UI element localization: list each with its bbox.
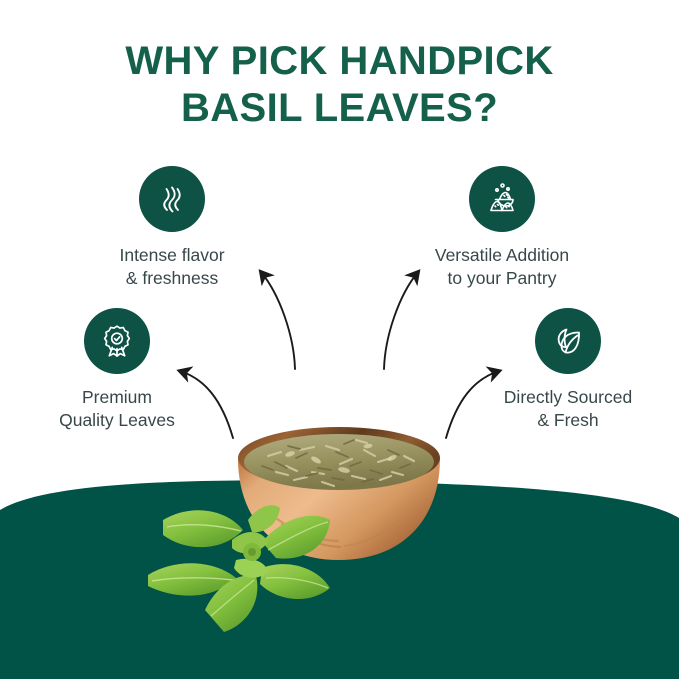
aroma-steam-icon (139, 166, 205, 232)
award-ribbon-icon (84, 308, 150, 374)
title-line-2: BASIL LEAVES? (0, 85, 679, 132)
title-line-1: WHY PICK HANDPICK (0, 38, 679, 85)
infographic-root: WHY PICK HANDPICK BASIL LEAVES? Intense … (0, 0, 679, 679)
product-scene (0, 400, 679, 679)
feature-label: Intense flavor & freshness (67, 244, 277, 291)
spice-bowl-icon (469, 166, 535, 232)
feature-versatile-addition[interactable]: Versatile Addition to your Pantry (397, 166, 607, 291)
dried-basil-fill (244, 434, 434, 490)
feature-intense-flavor[interactable]: Intense flavor & freshness (67, 166, 277, 291)
page-title: WHY PICK HANDPICK BASIL LEAVES? (0, 38, 679, 132)
feature-label: Versatile Addition to your Pantry (397, 244, 607, 291)
leaf-pair-icon (535, 308, 601, 374)
